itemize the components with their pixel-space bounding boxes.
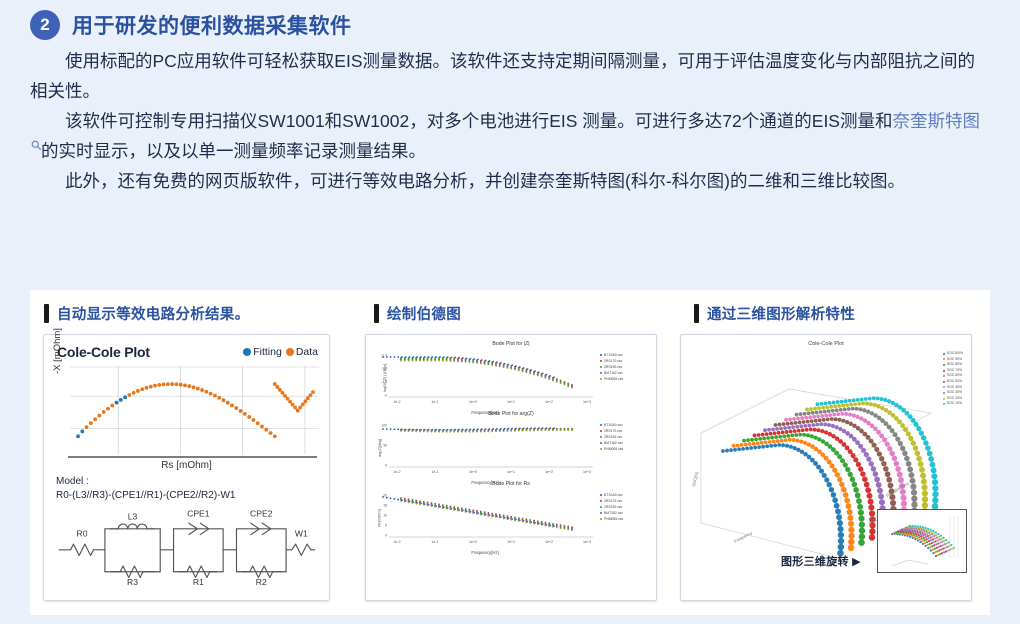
legend-swatch — [943, 364, 945, 366]
card-2-title: 绘制伯德图 — [387, 303, 461, 324]
feature-card-strip: 自动显示等效电路分析结果。 Cole-Cole Plot Fitting — [30, 290, 990, 615]
svg-text:1e+3: 1e+3 — [583, 400, 591, 404]
card-2-header: 绘制伯德图 — [360, 290, 680, 324]
legend-swatch — [943, 370, 945, 372]
card-3-header: 通过三维图形解析特性 — [680, 290, 990, 324]
legend-swatch — [943, 392, 945, 394]
cole-cole-header: Cole-Cole Plot Fitting Data — [44, 335, 329, 360]
svg-text:0: 0 — [385, 463, 387, 467]
model-formula: R0-(L3//R3)-(CPE1//R1)-(CPE2//R2)-W1 — [56, 489, 317, 503]
header-accent-bar — [374, 304, 379, 323]
legend-row: PNM055.csv — [600, 516, 652, 522]
circuit-label-r1: R1 — [193, 577, 204, 587]
legend-swatch — [600, 366, 602, 368]
nyquist-plot-link[interactable]: 奈奎斯特图 — [892, 111, 980, 131]
paragraph-3: 此外，还有免费的网页版软件，可进行等效电路分析，并创建奈奎斯特图(科尔-科尔图)… — [30, 166, 982, 196]
svg-text:100: 100 — [381, 423, 387, 427]
legend-swatch — [943, 353, 945, 355]
legend-swatch — [943, 398, 945, 400]
circuit-label-cpe1: CPE1 — [187, 508, 210, 518]
bode-legend: BT1SA0.csv2RS170.csv2RS190.csvBMT182.csv… — [600, 347, 652, 409]
cole-cole-x-axis — [68, 456, 317, 458]
legend-swatch — [943, 403, 945, 405]
legend-swatch — [600, 500, 602, 502]
feature-card-equivalent-circuit: 自动显示等效电路分析结果。 Cole-Cole Plot Fitting — [30, 290, 360, 615]
bode-plot-2: Bode Plot for arg(Z)arg(Z)[deg]1e-21e-11… — [370, 411, 652, 479]
bode-chart-canvas: log10( |Z| ) [Ohm]1e-21e-11e+01e+11e+21e… — [370, 347, 600, 409]
legend-swatch — [600, 372, 602, 374]
svg-text:1e+0: 1e+0 — [469, 400, 477, 404]
three-d-legend: SOC100%SOC 90%SOC 80%SOC 70%SOC 60%SOC 5… — [943, 351, 963, 407]
legend-label: PNM055.csv — [604, 516, 623, 522]
svg-text:5: 5 — [385, 523, 387, 527]
circuit-label-r3: R3 — [127, 577, 138, 587]
cole-cole-title: Cole-Cole Plot — [57, 344, 150, 360]
feature-card-bode: 绘制伯德图 Bode Plot for |Z|log10( |Z| ) [Ohm… — [360, 290, 680, 615]
bode-chart-canvas: Rs[mOhm]1e-21e-11e+01e+11e+21e+320151050… — [370, 487, 600, 549]
cole-cole-panel: Cole-Cole Plot Fitting Data — [43, 334, 330, 601]
cole-cole-y-axis-label: -X [mOhm] — [52, 328, 63, 374]
header-accent-bar — [694, 304, 699, 323]
svg-text:10: 10 — [383, 513, 387, 517]
legend-swatch-data — [286, 348, 294, 356]
legend-swatch — [600, 518, 602, 520]
svg-text:1e+0: 1e+0 — [469, 540, 477, 544]
legend-swatch — [943, 381, 945, 383]
circuit-label-l3: L3 — [128, 511, 138, 521]
svg-text:1e+2: 1e+2 — [545, 400, 553, 404]
legend-label: PNM055.csv — [604, 376, 623, 382]
feature-card-3d: 通过三维图形解析特性 Cole-Cole Plot — [680, 290, 990, 615]
svg-text:1e-2: 1e-2 — [393, 540, 400, 544]
card-3-title: 通过三维图形解析特性 — [707, 303, 855, 324]
three-d-rotate-caption[interactable]: 图形三维旋转 ▶ — [781, 553, 861, 569]
legend-swatch — [600, 448, 602, 450]
legend-swatch — [600, 354, 602, 356]
svg-text:50: 50 — [383, 443, 387, 447]
legend-swatch — [600, 360, 602, 362]
legend-swatch — [600, 424, 602, 426]
svg-text:0: 0 — [385, 533, 387, 537]
header-accent-bar — [44, 304, 49, 323]
body-copy: 使用标配的PC应用软件可轻松获取EIS测量数据。该软件还支持定期间隔测量，可用于… — [0, 40, 1020, 196]
cole-cole-x-axis-label: Rs [mOhm] — [44, 460, 329, 471]
legend-swatch — [600, 506, 602, 508]
bode-y-axis-label: Rs[mOhm] — [378, 509, 382, 526]
three-d-plot-area: Frequency SOC[%] -Im(Z) Data Re(Z)[mOhm]… — [681, 347, 971, 575]
search-icon[interactable] — [31, 140, 42, 151]
legend-swatch-fitting — [243, 348, 251, 356]
bode-x-axis-label: Frequency[Hz] — [370, 410, 600, 415]
legend-swatch — [600, 494, 602, 496]
legend-row: PNM055.csv — [600, 446, 652, 452]
svg-text:1e-2: 1e-2 — [393, 400, 400, 404]
svg-text:-2: -2 — [384, 393, 387, 397]
svg-text:1e+3: 1e+3 — [583, 540, 591, 544]
three-d-title: Cole-Cole Plot — [681, 335, 971, 347]
svg-text:1e-1: 1e-1 — [431, 470, 438, 474]
bode-y-axis-label: log10( |Z| ) [Ohm] — [383, 364, 387, 392]
bode-x-axis-label: Frequency[Hz] — [370, 550, 600, 555]
legend-label-data: Data — [296, 346, 318, 358]
svg-text:1e-1: 1e-1 — [431, 400, 438, 404]
circuit-label-r2: R2 — [256, 577, 267, 587]
page-root: 2 用于研发的便利数据采集软件 使用标配的PC应用软件可轻松获取EIS测量数据。… — [0, 0, 1020, 624]
cole-cole-legend: Fitting Data — [243, 346, 318, 358]
model-label: Model : — [56, 475, 317, 489]
cole-cole-scatter — [70, 366, 319, 458]
legend-swatch — [943, 358, 945, 360]
paragraph-1: 使用标配的PC应用软件可轻松获取EIS测量数据。该软件还支持定期间隔测量，可用于… — [30, 46, 982, 106]
svg-text:1e+0: 1e+0 — [469, 470, 477, 474]
cole-cole-plot-area: -X [mOhm] — [54, 366, 319, 454]
svg-text:15: 15 — [383, 503, 387, 507]
card-1-title: 自动显示等效电路分析结果。 — [57, 303, 249, 324]
equivalent-circuit-diagram: R0 L3 R3 CPE1 R1 CPE2 R2 W1 — [44, 505, 329, 592]
legend-row: SOC 10% — [943, 401, 963, 407]
legend-swatch — [600, 512, 602, 514]
legend-swatch — [600, 442, 602, 444]
paragraph-2-lead: 该软件可控制专用扫描仪SW1001和SW1002，对多个电池进行EIS 测量。可… — [65, 111, 892, 131]
paragraph-2: 该软件可控制专用扫描仪SW1001和SW1002，对多个电池进行EIS 测量。可… — [30, 106, 982, 166]
legend-swatch — [943, 386, 945, 388]
three-d-axis-label-soc: SOC[%] — [691, 471, 699, 487]
circuit-label-cpe2: CPE2 — [250, 508, 273, 518]
svg-text:1e-2: 1e-2 — [393, 470, 400, 474]
section-heading: 2 用于研发的便利数据采集软件 — [0, 0, 1020, 40]
paragraph-2-tail: 的实时显示，以及以单一测量频率记录测量结果。 — [41, 141, 426, 161]
section-number-badge: 2 — [30, 10, 60, 40]
bode-panel: Bode Plot for |Z|log10( |Z| ) [Ohm]1e-21… — [365, 334, 657, 601]
bode-plot-1: Bode Plot for |Z|log10( |Z| ) [Ohm]1e-21… — [370, 341, 652, 409]
three-d-thumbnail[interactable] — [877, 509, 967, 573]
svg-text:1e+2: 1e+2 — [545, 470, 553, 474]
page-title: 用于研发的便利数据采集软件 — [72, 10, 352, 40]
svg-text:1e-1: 1e-1 — [431, 540, 438, 544]
legend-swatch — [600, 378, 602, 380]
bode-chart-canvas: arg(Z)[deg]1e-21e-11e+01e+11e+21e+310050… — [370, 417, 600, 479]
bode-legend: BT1SA0.csv2RS170.csv2RS190.csvBMT182.csv… — [600, 487, 652, 549]
bode-plot-3: Bode Plot for RsRs[mOhm]1e-21e-11e+01e+1… — [370, 481, 652, 549]
legend-label: PNM055.csv — [604, 446, 623, 452]
bode-plot-stack: Bode Plot for |Z|log10( |Z| ) [Ohm]1e-21… — [366, 335, 656, 549]
legend-swatch — [600, 436, 602, 438]
legend-label-fitting: Fitting — [253, 346, 282, 358]
bode-legend: BT1SA0.csv2RS170.csv2RS190.csvBMT182.csv… — [600, 417, 652, 479]
bode-x-axis-label: Frequency[Hz] — [370, 480, 600, 485]
circuit-label-r0: R0 — [77, 528, 88, 538]
svg-text:1e+2: 1e+2 — [545, 540, 553, 544]
legend-label: SOC 10% — [947, 401, 962, 407]
legend-item-fitting: Fitting — [243, 346, 282, 358]
card-1-header: 自动显示等效电路分析结果。 — [30, 290, 360, 324]
bode-y-axis-label: arg(Z)[deg] — [378, 439, 382, 457]
legend-swatch — [943, 375, 945, 377]
model-block: Model : R0-(L3//R3)-(CPE1//R1)-(CPE2//R2… — [44, 471, 329, 503]
svg-text:1e+1: 1e+1 — [507, 540, 515, 544]
svg-text:1e+3: 1e+3 — [583, 470, 591, 474]
svg-text:1e+1: 1e+1 — [507, 470, 515, 474]
circuit-label-w1: W1 — [295, 528, 308, 538]
three-d-panel: Cole-Cole Plot Frequency — [680, 334, 972, 601]
legend-item-data: Data — [286, 346, 318, 358]
svg-text:1e+1: 1e+1 — [507, 400, 515, 404]
legend-row: PNM055.csv — [600, 376, 652, 382]
legend-swatch — [600, 430, 602, 432]
